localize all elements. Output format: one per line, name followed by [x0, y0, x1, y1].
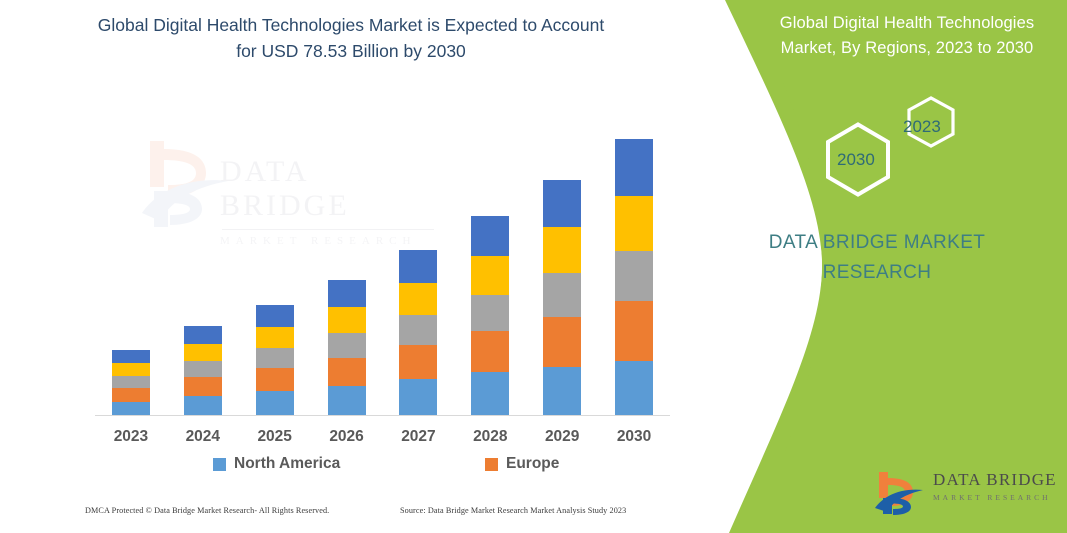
legend-item-north-america[interactable]: North America — [213, 455, 340, 473]
footer-source: Source: Data Bridge Market Research Mark… — [400, 506, 626, 515]
hexagon-badges: 2030 2023 — [797, 92, 997, 202]
logo-name: DATA BRIDGE — [933, 470, 1057, 490]
bar-column-2029 — [543, 180, 581, 416]
bar-column-2027 — [399, 250, 437, 416]
bar-segment — [328, 280, 366, 307]
bar-segment — [399, 250, 437, 283]
bar-segment — [399, 283, 437, 315]
hexagon-2023-label: 2023 — [903, 117, 941, 137]
bar-segment — [184, 326, 222, 344]
bar-segment — [615, 196, 653, 251]
bar-column-2023 — [112, 350, 150, 416]
bar-segment — [112, 402, 150, 416]
infographic-root: Global Digital Health Technologies Marke… — [0, 0, 1067, 533]
bar-segment — [328, 386, 366, 416]
bar-segment — [543, 180, 581, 227]
green-panel-content: Global Digital Health Technologies Marke… — [687, 0, 1067, 533]
x-axis-label-2025: 2025 — [240, 428, 310, 446]
bar-segment — [184, 361, 222, 377]
bar-chart-plot-area — [95, 120, 670, 416]
panel-brand-name: DATA BRIDGE MARKET RESEARCH — [727, 228, 1027, 288]
bar-column-2028 — [471, 216, 509, 416]
bar-column-2030 — [615, 139, 653, 416]
bar-segment — [256, 348, 294, 368]
footer: DMCA Protected © Data Bridge Market Rese… — [0, 506, 690, 526]
bar-segment — [543, 317, 581, 367]
legend-label: North America — [234, 455, 340, 473]
bar-segment — [112, 388, 150, 402]
bar-segment — [471, 372, 509, 416]
bar-segment — [112, 350, 150, 363]
legend-item-europe[interactable]: Europe — [485, 455, 559, 473]
bar-segment — [184, 396, 222, 416]
chart-legend: North AmericaEurope — [95, 455, 670, 481]
bar-segment — [543, 273, 581, 317]
bar-segment — [615, 361, 653, 416]
data-bridge-logo-icon — [873, 468, 927, 518]
bar-segment — [471, 331, 509, 372]
bar-segment — [615, 251, 653, 301]
panel-title: Global Digital Health Technologies Marke… — [757, 11, 1057, 61]
bar-segment — [256, 327, 294, 348]
x-axis-label-2027: 2027 — [383, 428, 453, 446]
legend-label: Europe — [506, 455, 559, 473]
bar-segment — [184, 344, 222, 361]
bar-column-2025 — [256, 305, 294, 416]
bar-segment — [471, 216, 509, 256]
bar-column-2024 — [184, 326, 222, 416]
bar-column-2026 — [328, 280, 366, 416]
bar-segment — [184, 377, 222, 396]
bar-segment — [615, 301, 653, 361]
footer-copyright: DMCA Protected © Data Bridge Market Rese… — [85, 506, 329, 515]
bar-segment — [328, 358, 366, 386]
x-axis-line — [95, 415, 670, 416]
legend-swatch-icon — [485, 458, 498, 471]
logo-wordmark: DATA BRIDGE MARKET RESEARCH — [933, 470, 1057, 502]
bar-segment — [328, 333, 366, 358]
x-axis-label-2029: 2029 — [527, 428, 597, 446]
bar-segment — [256, 368, 294, 391]
bar-segment — [399, 379, 437, 416]
x-axis-label-2026: 2026 — [312, 428, 382, 446]
bar-segment — [328, 307, 366, 333]
legend-swatch-icon — [213, 458, 226, 471]
bar-segment — [256, 305, 294, 327]
x-axis-label-2028: 2028 — [455, 428, 525, 446]
bar-segment — [615, 139, 653, 196]
bar-group — [95, 120, 670, 416]
hexagon-2030-label: 2030 — [837, 150, 875, 170]
x-axis-labels: 20232024202520262027202820292030 — [95, 428, 670, 454]
x-axis-label-2023: 2023 — [96, 428, 166, 446]
bar-segment — [399, 315, 437, 345]
x-axis-label-2024: 2024 — [168, 428, 238, 446]
bar-segment — [543, 227, 581, 273]
bar-segment — [256, 391, 294, 416]
bar-segment — [471, 295, 509, 331]
bar-segment — [543, 367, 581, 416]
x-axis-label-2030: 2030 — [599, 428, 669, 446]
company-logo: DATA BRIDGE MARKET RESEARCH — [873, 466, 1063, 522]
bar-segment — [399, 345, 437, 379]
bar-segment — [112, 363, 150, 376]
page-title: Global Digital Health Technologies Marke… — [86, 12, 616, 64]
bar-segment — [112, 376, 150, 388]
logo-tagline: MARKET RESEARCH — [933, 493, 1057, 502]
bar-segment — [471, 256, 509, 295]
